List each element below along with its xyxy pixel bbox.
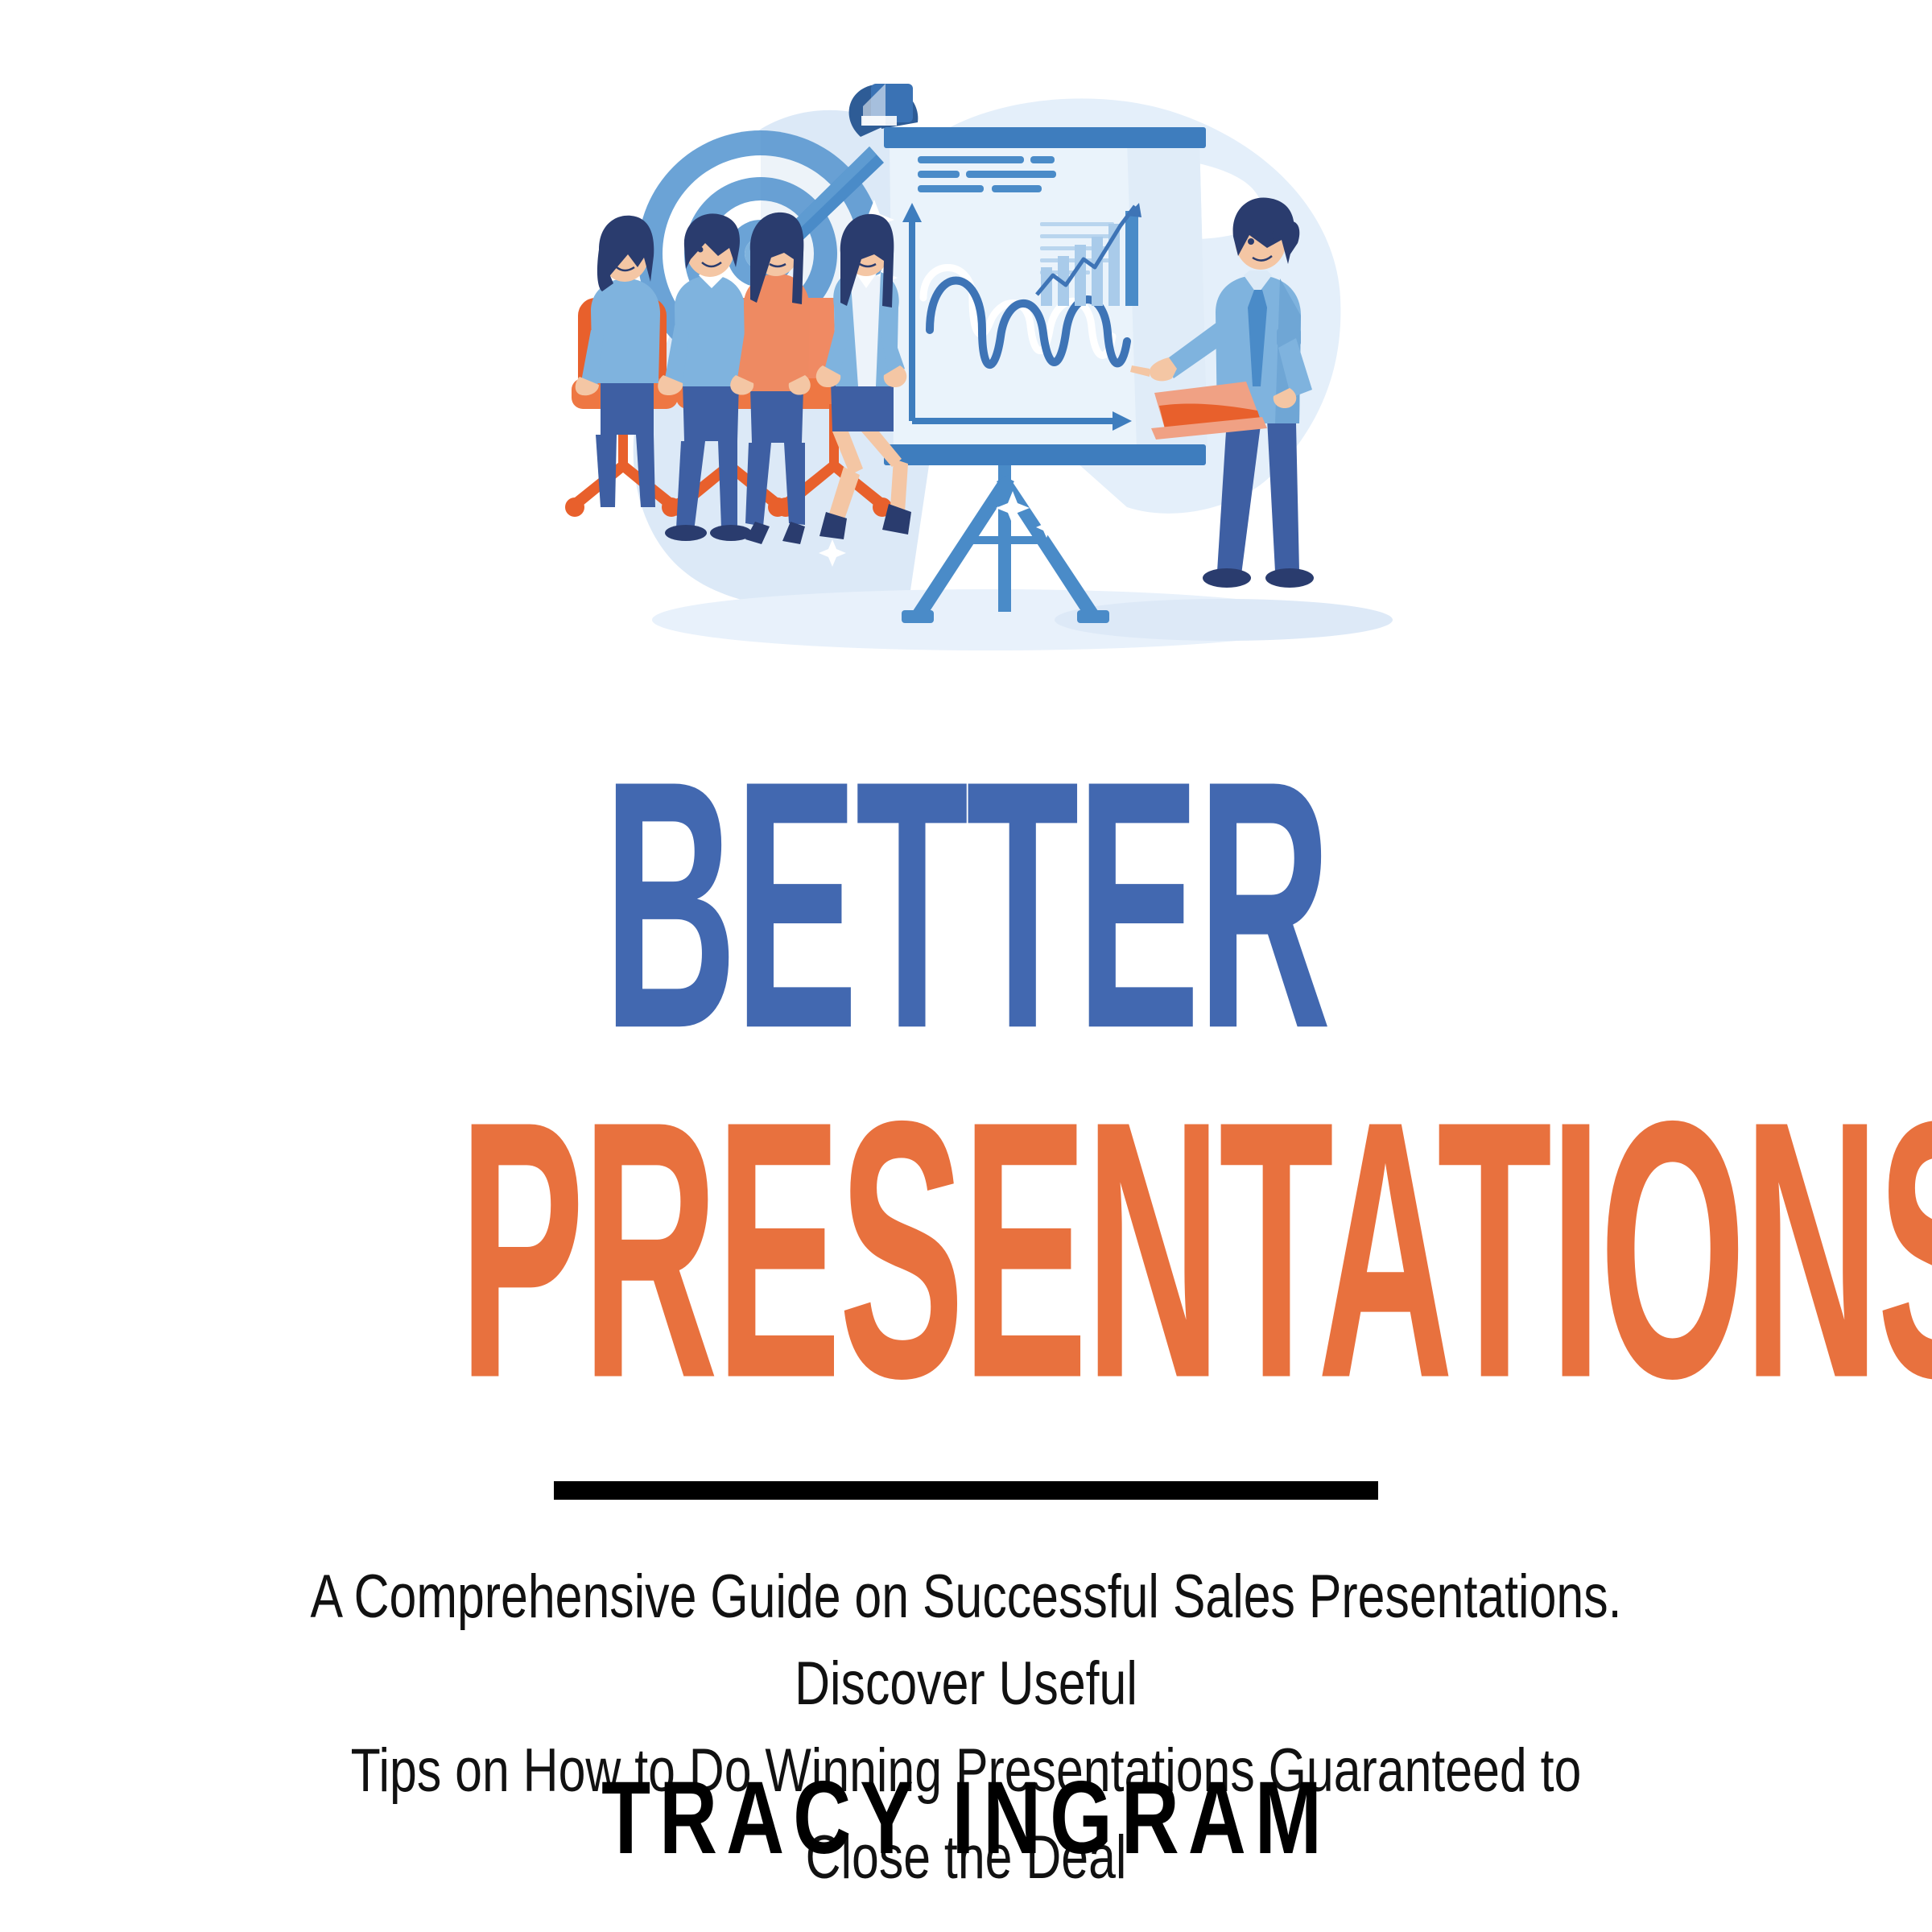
presentation-illustration bbox=[563, 56, 1417, 733]
book-cover: BETTER PRESENTATIONS A Comprehensive Gui… bbox=[0, 0, 1932, 1932]
tripod-stand bbox=[902, 465, 1109, 623]
title-divider-bar bbox=[554, 1481, 1378, 1500]
author-name: TRACY INGRAM bbox=[213, 1759, 1719, 1877]
title-line-1: BETTER bbox=[449, 729, 1483, 1082]
title-line-2: PRESENTATIONS bbox=[459, 1067, 1473, 1433]
subtitle-line-1: A Comprehensive Guide on Successful Sale… bbox=[309, 1554, 1623, 1728]
